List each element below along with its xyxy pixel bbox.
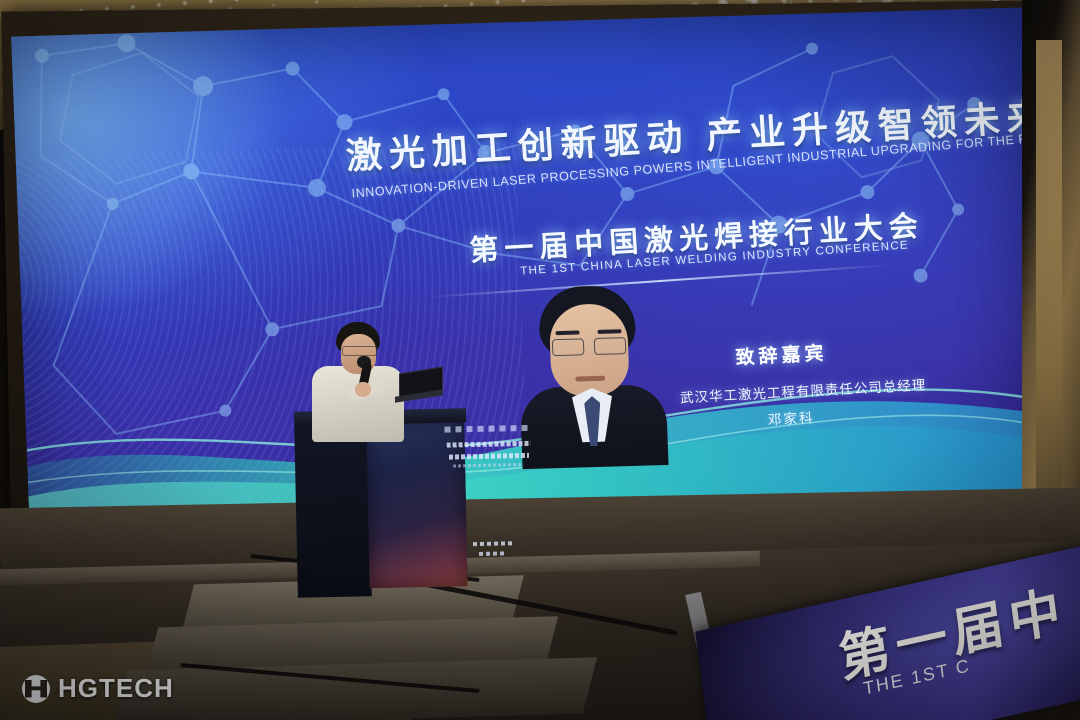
hgtech-h-logo-icon [22,675,50,703]
laptop-on-podium [395,370,441,400]
hgtech-watermark: HGTECH [22,673,174,704]
conference-photo-scene: 激光加工创新驱动 产业升级智领未来 INNOVATION-DRIVEN LASE… [0,0,1080,720]
speaker-portrait-photo [508,280,675,470]
guest-organization: 武汉华工激光工程有限责任公司总经理 [679,373,926,406]
guest-label: 致辞嘉宾 [735,338,829,370]
presenter-at-podium [300,322,430,452]
podium-footer-line-2 [479,551,507,556]
hgtech-brand-text: HGTECH [58,673,174,704]
podium-footer-line-1 [473,541,513,546]
guest-name: 邓家科 [767,406,815,428]
